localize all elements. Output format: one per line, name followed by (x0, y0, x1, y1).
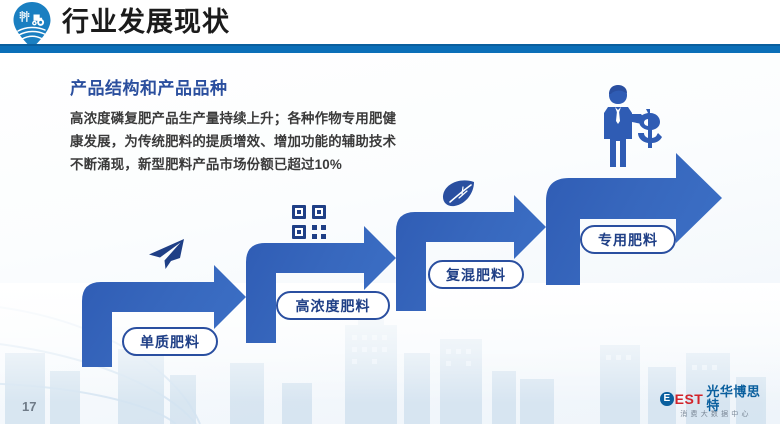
staircase-label-1[interactable]: 单质肥料 (122, 327, 218, 356)
slide-body: 产品结构和产品品种 高浓度磷复肥产品生产量持续上升；各种作物专用肥健康发展，为传… (0, 53, 780, 424)
staircase-label-3-text: 复混肥料 (446, 265, 506, 285)
page-title: 行业发展现状 (62, 5, 230, 39)
paper-plane-icon (146, 237, 186, 276)
staircase-label-1-text: 单质肥料 (140, 332, 200, 352)
header-divider-highlight (0, 44, 780, 46)
brand-logo: E EST 光华博思特 消费大数据中心 (660, 390, 772, 417)
staircase-label-2[interactable]: 高浓度肥料 (276, 291, 390, 320)
brand-logo-latin: EST (675, 392, 704, 406)
staircase-label-2-text: 高浓度肥料 (296, 296, 371, 316)
staircase-label-3[interactable]: 复混肥料 (428, 260, 524, 289)
leaf-icon (440, 179, 478, 214)
slide-header: 行业发展现状 (0, 0, 780, 52)
brand-logo-row: E EST 光华博思特 (660, 390, 772, 407)
staircase-label-4-text: 专用肥料 (598, 230, 658, 250)
page-number: 17 (22, 399, 36, 414)
slide-root: 行业发展现状 (0, 0, 780, 424)
qr-code-icon (292, 205, 326, 244)
brand-logo-mark: E (660, 392, 674, 406)
staircase-label-4[interactable]: 专用肥料 (580, 225, 676, 254)
header-divider (0, 44, 780, 53)
businessman-with-dollar-icon (596, 81, 672, 176)
